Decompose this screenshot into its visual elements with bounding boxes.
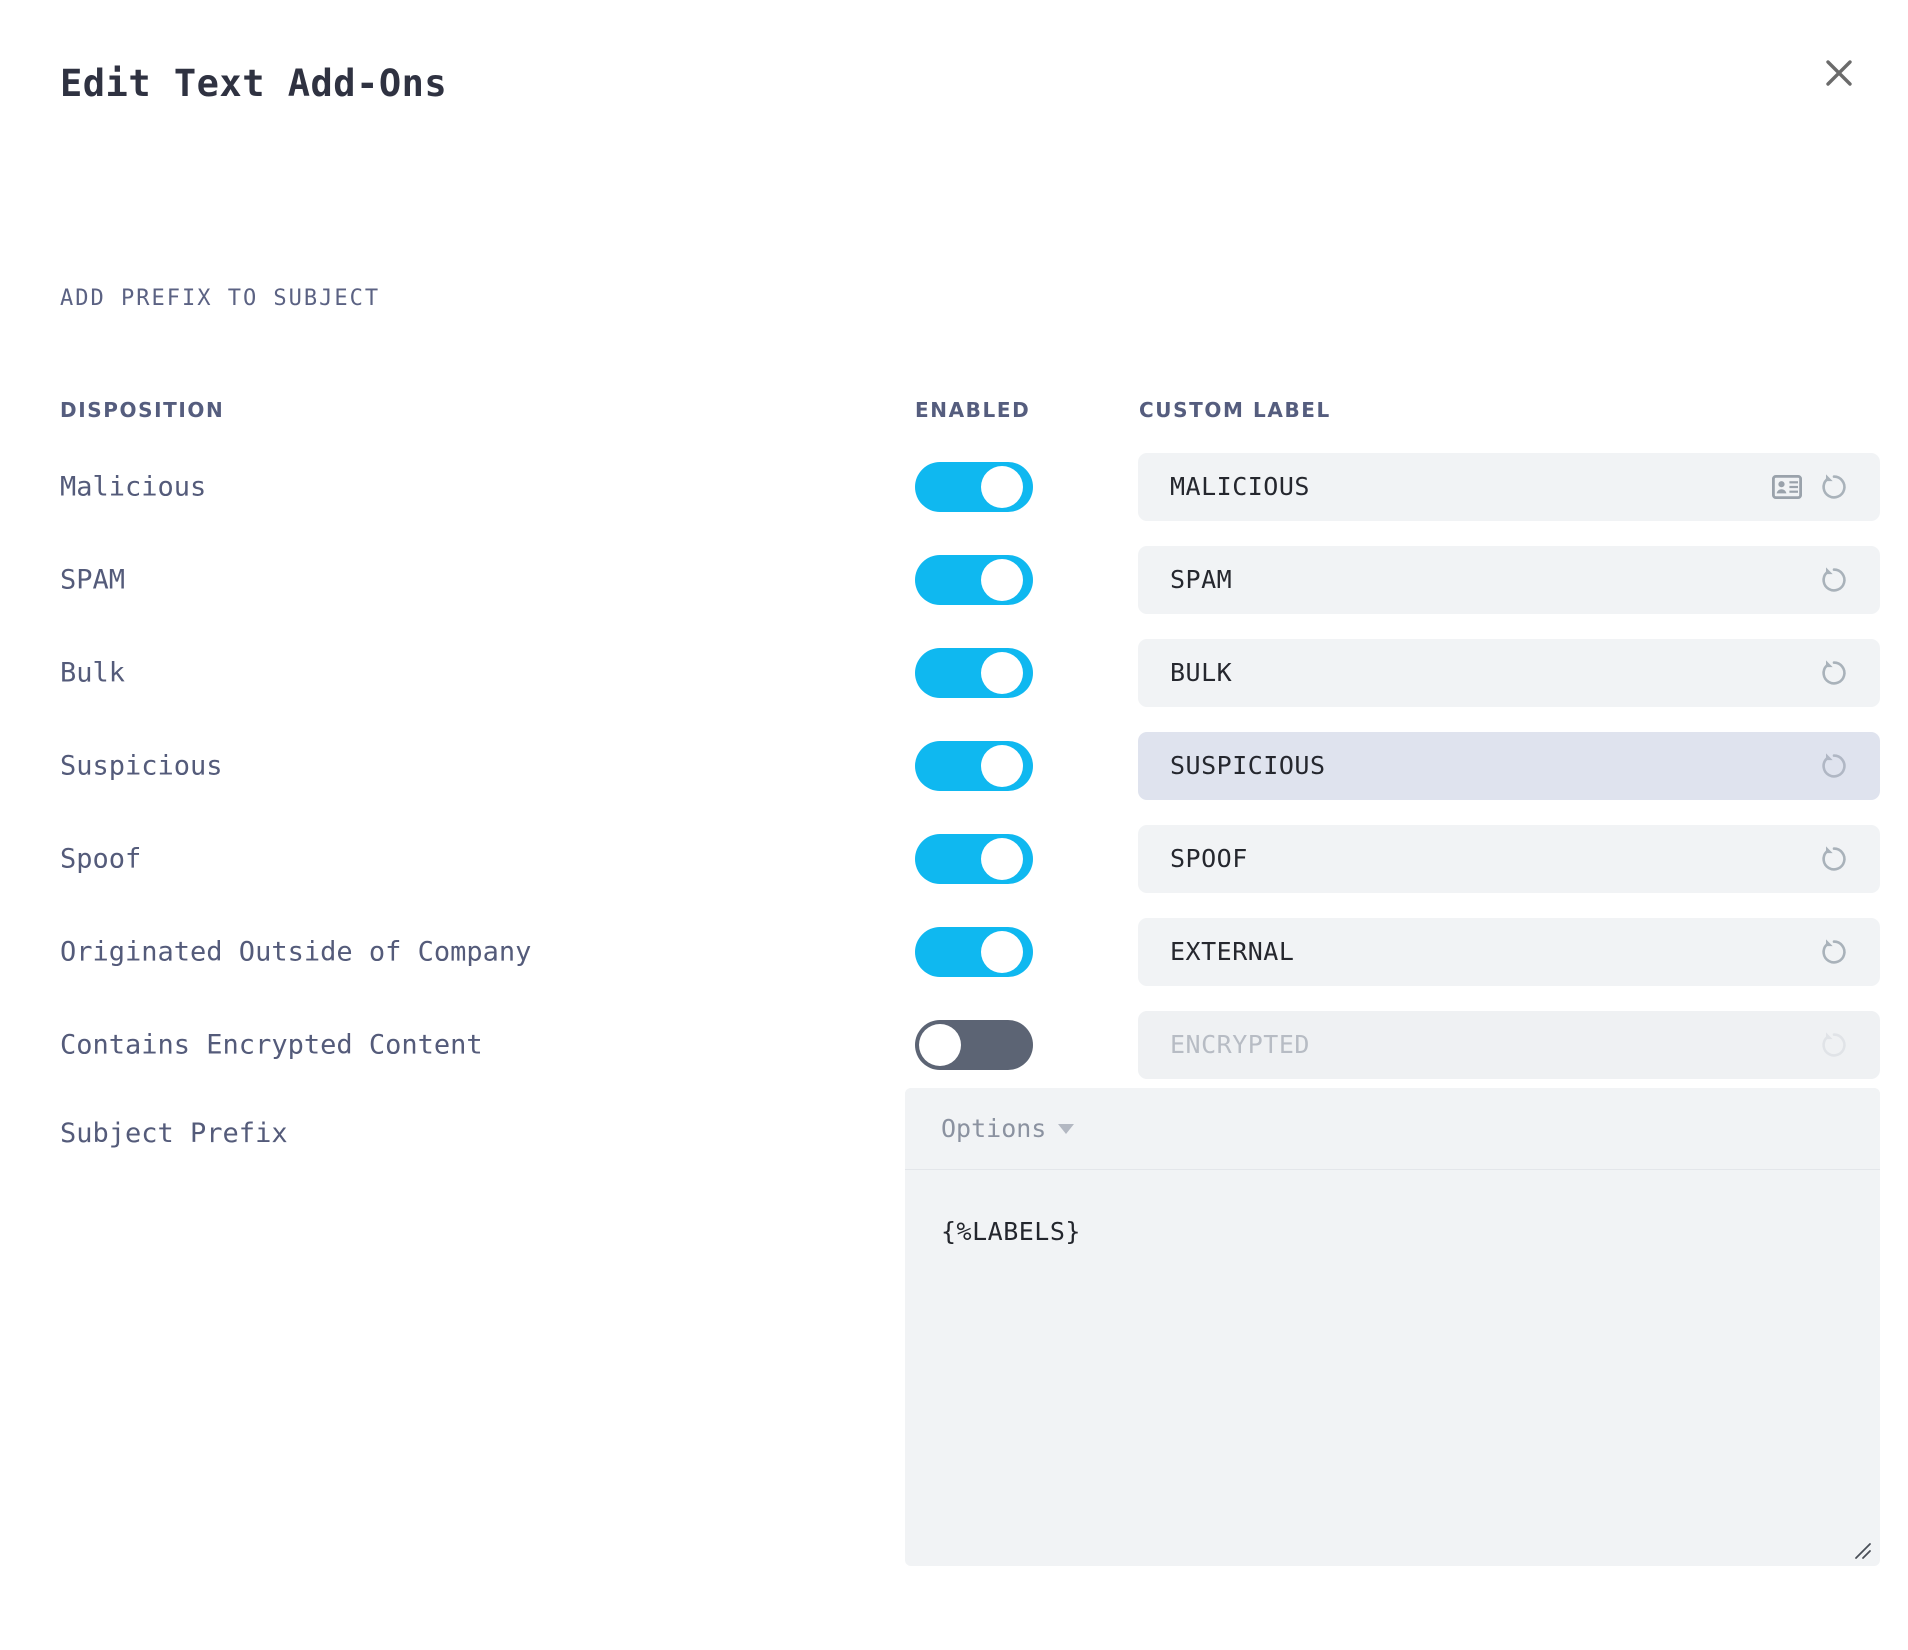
table-row: Spoof SPOOF xyxy=(0,812,1908,905)
options-dropdown[interactable]: Options xyxy=(941,1114,1074,1143)
custom-label-value: SPOOF xyxy=(1138,844,1818,873)
reset-icon xyxy=(1818,1029,1850,1061)
table-row: Originated Outside of Company EXTERNAL xyxy=(0,905,1908,998)
reset-icon[interactable] xyxy=(1818,657,1850,689)
custom-label-value: BULK xyxy=(1138,658,1818,687)
disposition-label: Suspicious xyxy=(60,750,223,781)
custom-label-value: ENCRYPTED xyxy=(1138,1030,1818,1059)
disposition-label: SPAM xyxy=(60,564,125,595)
toggle-knob xyxy=(981,838,1023,880)
enabled-toggle-malicious[interactable] xyxy=(915,462,1033,512)
options-dropdown-label: Options xyxy=(941,1114,1046,1143)
column-header-disposition: DISPOSITION xyxy=(60,398,224,422)
disposition-table: DISPOSITION ENABLED CUSTOM LABEL Malicio… xyxy=(0,380,1908,1091)
table-row: Contains Encrypted Content ENCRYPTED xyxy=(0,998,1908,1091)
enabled-toggle-external[interactable] xyxy=(915,927,1033,977)
custom-label-value: EXTERNAL xyxy=(1138,937,1818,966)
disposition-label: Originated Outside of Company xyxy=(60,936,531,967)
close-icon xyxy=(1822,56,1856,90)
reset-icon[interactable] xyxy=(1818,843,1850,875)
table-row: Bulk BULK xyxy=(0,626,1908,719)
table-header-row: DISPOSITION ENABLED CUSTOM LABEL xyxy=(0,380,1908,440)
enabled-toggle-suspicious[interactable] xyxy=(915,741,1033,791)
toggle-knob xyxy=(919,1024,961,1066)
close-button[interactable] xyxy=(1812,46,1866,100)
column-header-custom-label: CUSTOM LABEL xyxy=(1139,398,1331,422)
subject-prefix-editor: Options {%LABELS} xyxy=(905,1088,1880,1566)
custom-label-input-spam[interactable]: SPAM xyxy=(1138,546,1880,614)
toggle-knob xyxy=(981,745,1023,787)
reset-icon[interactable] xyxy=(1818,936,1850,968)
reset-icon[interactable] xyxy=(1818,564,1850,596)
subject-prefix-label: Subject Prefix xyxy=(60,1118,288,1149)
custom-label-value: SPAM xyxy=(1138,565,1818,594)
toggle-knob xyxy=(981,652,1023,694)
table-row: Suspicious SUSPICIOUS xyxy=(0,719,1908,812)
input-icon-group xyxy=(1818,750,1880,782)
disposition-label: Spoof xyxy=(60,843,141,874)
custom-label-input-bulk[interactable]: BULK xyxy=(1138,639,1880,707)
disposition-label: Contains Encrypted Content xyxy=(60,1029,483,1060)
toggle-knob xyxy=(981,466,1023,508)
column-header-enabled: ENABLED xyxy=(915,398,1030,422)
edit-text-addons-dialog: Edit Text Add-Ons ADD PREFIX TO SUBJECT … xyxy=(0,0,1908,1650)
table-row: Malicious MALICIOUS xyxy=(0,440,1908,533)
chevron-down-icon xyxy=(1058,1124,1074,1134)
input-icon-group xyxy=(1818,657,1880,689)
custom-label-input-encrypted: ENCRYPTED xyxy=(1138,1011,1880,1079)
section-label-add-prefix-to-subject: ADD PREFIX TO SUBJECT xyxy=(60,286,380,311)
input-icon-group xyxy=(1818,936,1880,968)
resize-handle-icon[interactable] xyxy=(1848,1536,1874,1562)
editor-body[interactable]: {%LABELS} xyxy=(905,1170,1880,1566)
custom-label-input-suspicious[interactable]: SUSPICIOUS xyxy=(1138,732,1880,800)
input-icon-group xyxy=(1818,843,1880,875)
custom-label-input-spoof[interactable]: SPOOF xyxy=(1138,825,1880,893)
contact-card-icon[interactable] xyxy=(1772,475,1802,499)
enabled-toggle-encrypted[interactable] xyxy=(915,1020,1033,1070)
custom-label-value: MALICIOUS xyxy=(1138,472,1772,501)
editor-toolbar: Options xyxy=(905,1088,1880,1170)
table-row: SPAM SPAM xyxy=(0,533,1908,626)
page-title: Edit Text Add-Ons xyxy=(60,62,447,105)
reset-icon[interactable] xyxy=(1818,471,1850,503)
toggle-knob xyxy=(981,559,1023,601)
disposition-label: Malicious xyxy=(60,471,206,502)
reset-icon[interactable] xyxy=(1818,750,1850,782)
input-icon-group xyxy=(1772,471,1880,503)
enabled-toggle-spoof[interactable] xyxy=(915,834,1033,884)
input-icon-group xyxy=(1818,564,1880,596)
toggle-knob xyxy=(981,931,1023,973)
custom-label-input-external[interactable]: EXTERNAL xyxy=(1138,918,1880,986)
input-icon-group xyxy=(1818,1029,1880,1061)
subject-prefix-textarea-value: {%LABELS} xyxy=(941,1214,1844,1249)
disposition-label: Bulk xyxy=(60,657,125,688)
enabled-toggle-spam[interactable] xyxy=(915,555,1033,605)
custom-label-input-malicious[interactable]: MALICIOUS xyxy=(1138,453,1880,521)
custom-label-value: SUSPICIOUS xyxy=(1138,751,1818,780)
enabled-toggle-bulk[interactable] xyxy=(915,648,1033,698)
dialog-header: Edit Text Add-Ons xyxy=(0,0,1908,150)
